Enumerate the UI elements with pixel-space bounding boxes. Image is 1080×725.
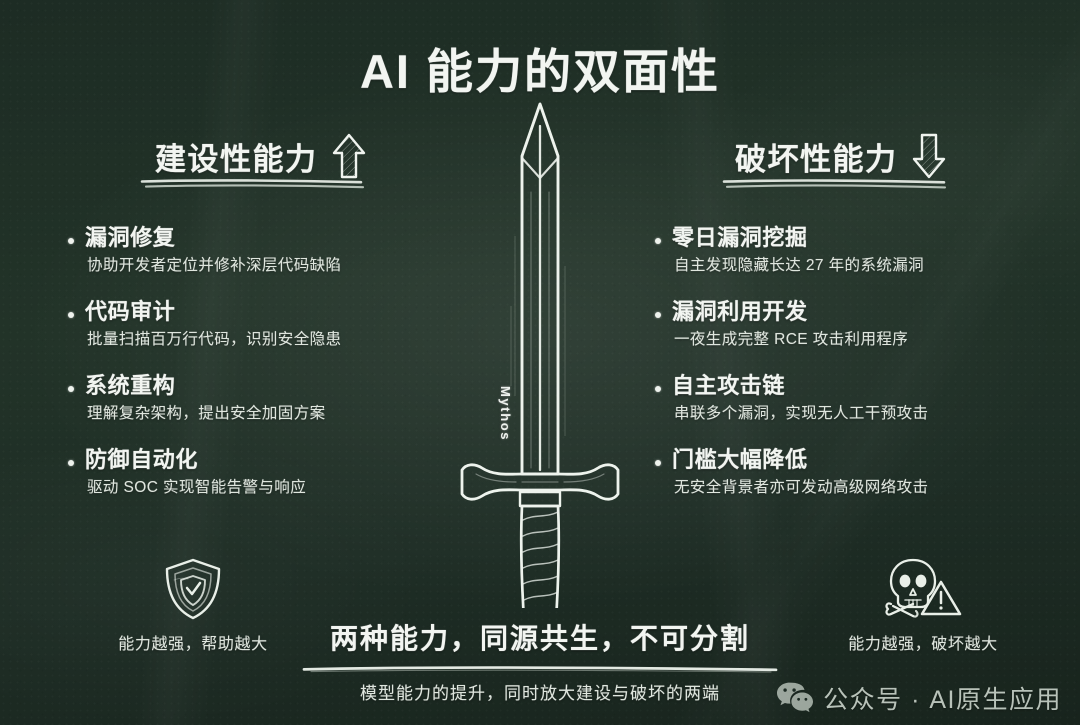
conclusion-headline: 两种能力，同源共生，不可分割	[0, 617, 1080, 657]
list-item-desc: 协助开发者定位并修补深层代码缺陷	[85, 256, 468, 276]
list-item-title: 自主攻击链	[672, 373, 1055, 399]
list-item: 代码审计 批量扫描百万行代码，识别安全隐患	[68, 299, 468, 350]
page-title: AI 能力的双面性	[0, 33, 1080, 102]
bullet-icon	[655, 238, 661, 244]
conclusion-divider	[301, 664, 779, 674]
list-item-desc: 驱动 SOC 实现智能告警与响应	[85, 478, 468, 498]
constructive-heading-label: 建设性能力	[155, 134, 318, 179]
list-item-title: 漏洞修复	[85, 225, 468, 251]
list-item-desc: 批量扫描百万行代码，识别安全隐患	[85, 330, 468, 350]
bullet-icon	[655, 386, 661, 392]
list-item-desc: 无安全背景者亦可发动高级网络攻击	[672, 478, 1055, 498]
bullet-icon	[68, 460, 74, 466]
list-item-title: 门槛大幅降低	[672, 447, 1055, 473]
bullet-icon	[655, 312, 661, 318]
list-item-desc: 串联多个漏洞，实现无人工干预攻击	[672, 404, 1055, 424]
list-item-title: 代码审计	[85, 299, 468, 325]
destructive-capability-list: 零日漏洞挖掘 自主发现隐藏长达 27 年的系统漏洞 漏洞利用开发 一夜生成完整 …	[655, 225, 1055, 521]
arrow-down-icon	[912, 133, 946, 179]
list-item: 系统重构 理解复杂架构，提出安全加固方案	[68, 373, 468, 424]
constructive-capability-list: 漏洞修复 协助开发者定位并修补深层代码缺陷 代码审计 批量扫描百万行代码，识别安…	[68, 225, 468, 521]
skull-warning-icon	[803, 556, 1043, 622]
shield-check-icon	[73, 556, 313, 622]
list-item: 漏洞修复 协助开发者定位并修补深层代码缺陷	[68, 225, 468, 276]
bullet-icon	[655, 460, 661, 466]
wechat-icon	[776, 681, 814, 715]
list-item: 自主攻击链 串联多个漏洞，实现无人工干预攻击	[655, 373, 1055, 424]
arrow-up-icon	[332, 133, 366, 179]
list-item: 漏洞利用开发 一夜生成完整 RCE 攻击利用程序	[655, 299, 1055, 350]
destructive-heading-underline	[722, 178, 947, 190]
sword-label: Mythos	[498, 386, 513, 441]
constructive-heading-underline	[140, 178, 365, 190]
watermark-label: 公众号 · AI原生应用	[823, 680, 1062, 716]
chalkboard-background: AI 能力的双面性 建设性能力 破坏性能力	[0, 0, 1080, 725]
watermark: 公众号 · AI原生应用	[776, 680, 1062, 716]
sword-icon	[452, 96, 628, 608]
list-item: 零日漏洞挖掘 自主发现隐藏长达 27 年的系统漏洞	[655, 225, 1055, 276]
bullet-icon	[68, 238, 74, 244]
list-item-title: 防御自动化	[85, 447, 468, 473]
list-item-title: 系统重构	[85, 373, 468, 399]
list-item-desc: 自主发现隐藏长达 27 年的系统漏洞	[672, 256, 1055, 276]
list-item: 防御自动化 驱动 SOC 实现智能告警与响应	[68, 447, 468, 498]
bullet-icon	[68, 386, 74, 392]
destructive-heading-label: 破坏性能力	[735, 134, 898, 179]
bullet-icon	[68, 312, 74, 318]
list-item-desc: 理解复杂架构，提出安全加固方案	[85, 404, 468, 424]
list-item-title: 零日漏洞挖掘	[672, 225, 1055, 251]
destructive-column-heading: 破坏性能力	[735, 133, 946, 179]
list-item: 门槛大幅降低 无安全背景者亦可发动高级网络攻击	[655, 447, 1055, 498]
list-item-title: 漏洞利用开发	[672, 299, 1055, 325]
list-item-desc: 一夜生成完整 RCE 攻击利用程序	[672, 330, 1055, 350]
constructive-column-heading: 建设性能力	[155, 133, 366, 179]
